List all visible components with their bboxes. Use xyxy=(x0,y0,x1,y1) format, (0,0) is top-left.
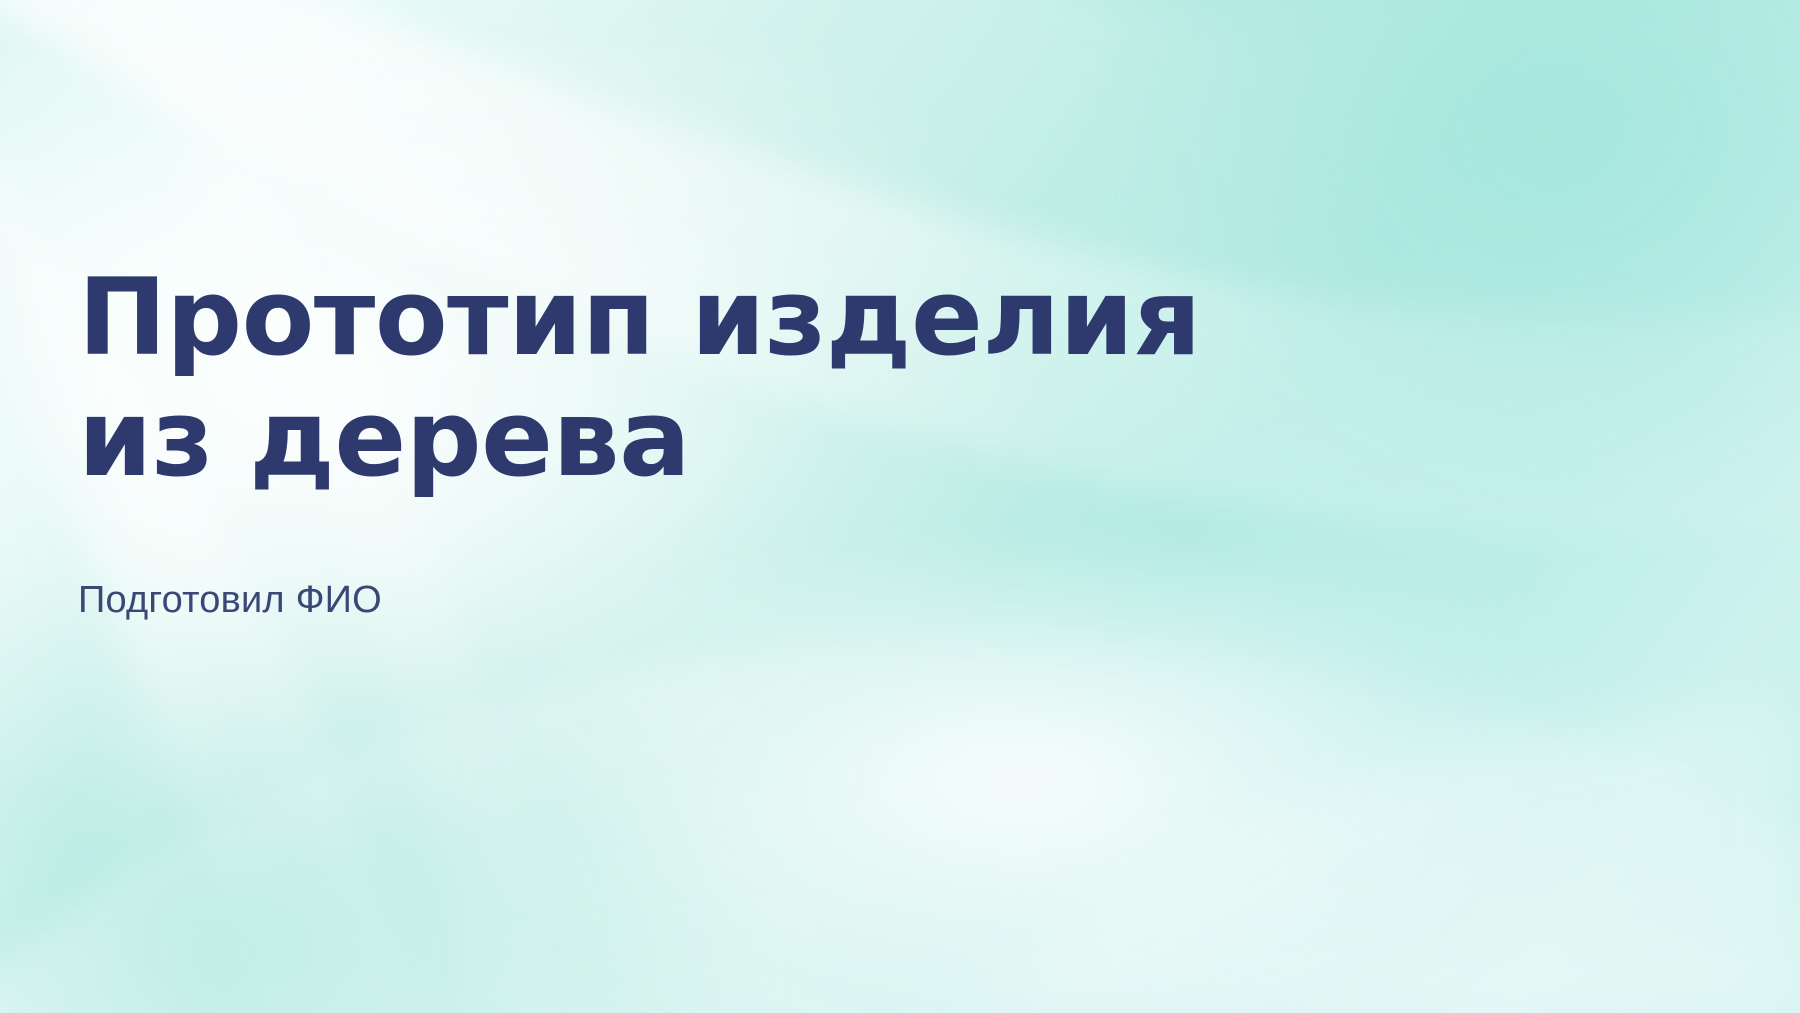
title-slide: Прототип изделия из дерева Подготовил ФИ… xyxy=(0,0,1800,1013)
slide-title: Прототип изделия из дерева xyxy=(78,258,1258,500)
glow-bottom-left xyxy=(0,573,740,1013)
glow-lower-center xyxy=(430,560,1610,1013)
slide-subtitle: Подготовил ФИО xyxy=(78,500,1308,625)
title-block: Прототип изделия из дерева Подготовил ФИ… xyxy=(78,258,1308,625)
